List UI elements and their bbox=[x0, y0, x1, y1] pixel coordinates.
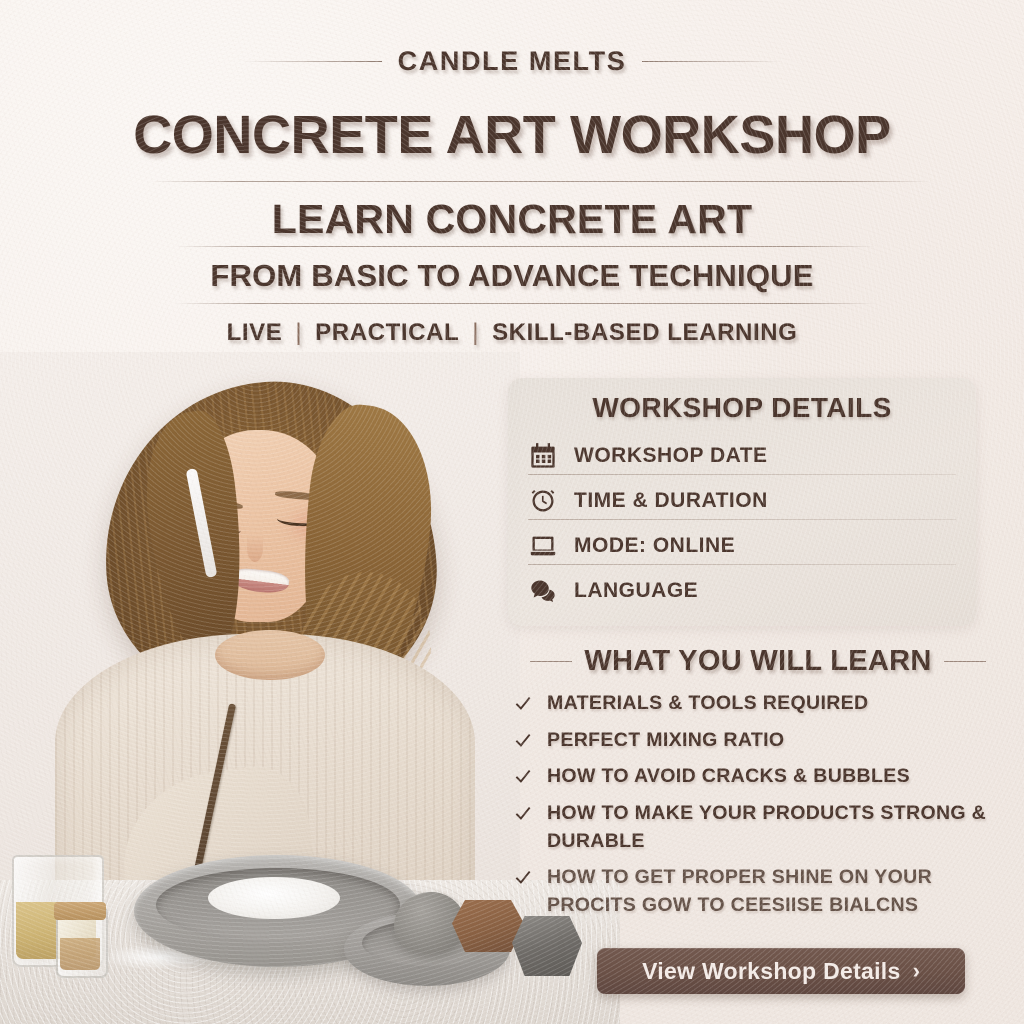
neckline bbox=[215, 630, 325, 680]
detail-label: WORKSHOP DATE bbox=[574, 444, 768, 468]
detail-row-language[interactable]: LANGUAGE bbox=[528, 568, 960, 613]
cta-label: View Workshop Details bbox=[642, 958, 901, 985]
feature-separator-2: | bbox=[472, 319, 479, 347]
learn-rule-right bbox=[944, 661, 986, 662]
learn-list: MATERIALS & TOOLS REQUIRED PERFECT MIXIN… bbox=[512, 690, 1024, 929]
detail-label: MODE: ONLINE bbox=[574, 534, 735, 558]
workshop-details-title: WORKSHOP DETAILS bbox=[508, 392, 976, 424]
eyebrow-row: CANDLE MELTS bbox=[0, 46, 1024, 77]
nose bbox=[247, 534, 263, 562]
learn-item-label: HOW TO GET PROPER SHINE ON YOUR PROCITS … bbox=[547, 864, 1024, 919]
detail-divider-3 bbox=[528, 564, 956, 565]
check-icon bbox=[512, 765, 534, 787]
instructor-figure bbox=[95, 372, 445, 932]
feature-practical: PRACTICAL bbox=[315, 319, 459, 347]
learn-item-label: HOW TO MAKE YOUR PRODUCTS STRONG & DURAB… bbox=[547, 800, 1024, 855]
detail-label: TIME & DURATION bbox=[574, 489, 768, 513]
feature-row: LIVE | PRACTICAL | SKILL-BASED LEARNING bbox=[0, 319, 1024, 347]
learn-section-header: WHAT YOU WILL LEARN bbox=[498, 645, 1018, 678]
divider-3 bbox=[175, 303, 875, 304]
eyebrow-rule-right bbox=[642, 61, 782, 62]
poster-root: CANDLE MELTS CONCRETE ART WORKSHOP LEARN… bbox=[0, 0, 1024, 1024]
detail-divider-1 bbox=[528, 474, 956, 475]
laptop-icon bbox=[528, 531, 558, 561]
list-item: PERFECT MIXING RATIO bbox=[512, 727, 1024, 755]
learn-item-label: MATERIALS & TOOLS REQUIRED bbox=[547, 690, 868, 718]
learn-section-title: WHAT YOU WILL LEARN bbox=[584, 645, 931, 678]
divider-1 bbox=[150, 181, 930, 182]
chevron-right-icon: › bbox=[913, 960, 920, 982]
list-item: HOW TO GET PROPER SHINE ON YOUR PROCITS … bbox=[512, 864, 1024, 919]
detail-row-workshop-date[interactable]: WORKSHOP DATE bbox=[528, 433, 960, 478]
jar-contents bbox=[60, 938, 100, 970]
white-concrete-mixture bbox=[208, 877, 340, 919]
check-icon bbox=[512, 802, 534, 824]
page-title: CONCRETE ART WORKSHOP bbox=[0, 104, 1024, 166]
list-item: HOW TO MAKE YOUR PRODUCTS STRONG & DURAB… bbox=[512, 800, 1024, 855]
feature-separator-1: | bbox=[295, 319, 302, 347]
calendar-icon bbox=[528, 441, 558, 471]
list-item: MATERIALS & TOOLS REQUIRED bbox=[512, 690, 1024, 718]
list-item: HOW TO AVOID CRACKS & BUBBLES bbox=[512, 763, 1024, 791]
page-subtitle: LEARN CONCRETE ART bbox=[0, 196, 1024, 243]
detail-row-mode-online[interactable]: MODE: ONLINE bbox=[528, 523, 960, 568]
learn-rule-left bbox=[530, 661, 572, 662]
chat-icon bbox=[528, 576, 558, 606]
detail-divider-2 bbox=[528, 519, 956, 520]
feature-skill-based: SKILL-BASED LEARNING bbox=[492, 319, 797, 347]
check-icon bbox=[512, 866, 534, 888]
learn-item-label: HOW TO AVOID CRACKS & BUBBLES bbox=[547, 763, 910, 791]
eyebrow-rule-left bbox=[242, 61, 382, 62]
divider-2 bbox=[175, 246, 875, 247]
clock-icon bbox=[528, 486, 558, 516]
learn-item-label: PERFECT MIXING RATIO bbox=[547, 727, 784, 755]
view-workshop-details-button[interactable]: View Workshop Details › bbox=[597, 948, 965, 994]
brand-eyebrow: CANDLE MELTS bbox=[398, 46, 627, 77]
jar-cork-lid bbox=[54, 902, 106, 920]
detail-label: LANGUAGE bbox=[574, 579, 698, 603]
check-icon bbox=[512, 729, 534, 751]
check-icon bbox=[512, 692, 534, 714]
feature-live: LIVE bbox=[227, 319, 283, 347]
page-tagline: FROM BASIC TO ADVANCE TECHNIQUE bbox=[0, 258, 1024, 294]
detail-row-time-duration[interactable]: TIME & DURATION bbox=[528, 478, 960, 523]
